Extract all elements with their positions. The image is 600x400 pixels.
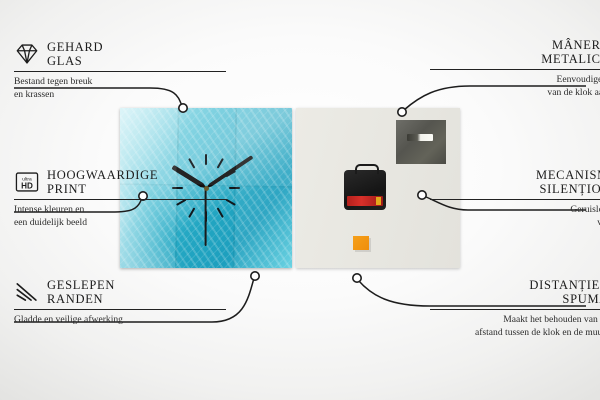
feature-title-line: SPUMĂ xyxy=(529,292,600,306)
feature-heading: MECANISM SILENȚIOS xyxy=(430,168,600,196)
feature-title-line: GEHARD xyxy=(47,40,103,54)
feature-silent-mechanism: MECANISM SILENȚIOS Geruisloze wijzers va… xyxy=(430,168,600,229)
battery xyxy=(347,196,383,206)
svg-text:HD: HD xyxy=(21,182,33,191)
feature-title: MÂNERE METALICE xyxy=(541,38,600,66)
feature-heading: ultra HD HOOGWAARDIGE PRINT xyxy=(14,168,226,196)
feature-metal-handles: MÂNERE METALICE Eenvoudige installatie v… xyxy=(430,38,600,99)
feature-title-line: METALICE xyxy=(541,52,600,66)
feature-desc-line: van de klok aan de muur xyxy=(430,87,600,100)
feature-desc-line: en krassen xyxy=(14,89,226,102)
feature-desc-line: Eenvoudige installatie xyxy=(430,74,600,87)
feature-tempered-glass: GEHARD GLAS Bestand tegen breuk en krass… xyxy=(14,40,226,101)
feature-title-line: PRINT xyxy=(47,182,158,196)
bevel-lines-icon xyxy=(14,279,40,305)
feature-title-line: MÂNERE xyxy=(541,38,600,52)
feature-divider xyxy=(430,199,600,200)
infographic-canvas: GEHARD GLAS Bestand tegen breuk en krass… xyxy=(0,0,600,400)
feature-description: Maakt het behouden van een gelijke afsta… xyxy=(430,314,600,339)
feature-divider xyxy=(430,69,600,70)
foam-spacer-pad xyxy=(353,236,369,250)
quartz-movement-box xyxy=(344,170,386,210)
feature-heading: MÂNERE METALICE xyxy=(430,38,600,66)
feature-desc-line: Bestand tegen breuk xyxy=(14,76,226,89)
feature-title: GESLEPEN RANDEN xyxy=(47,278,115,306)
feature-desc-line: Gladde en veilige afwerking xyxy=(14,314,226,327)
feature-divider xyxy=(14,309,226,310)
callout-dot-edges xyxy=(251,272,259,280)
hanger-slot xyxy=(407,134,433,141)
feature-title-line: MECANISM xyxy=(536,168,600,182)
feature-desc-line: Intense kleuren en xyxy=(14,204,226,217)
feature-title-line: SILENȚIOS xyxy=(536,182,600,196)
metal-hanger-plate xyxy=(396,120,446,164)
feature-divider xyxy=(14,199,226,200)
feature-title: MECANISM SILENȚIOS xyxy=(536,168,600,196)
feature-title: GEHARD GLAS xyxy=(47,40,103,68)
feature-title-line: GLAS xyxy=(47,54,103,68)
feature-foam-spacer: DISTANȚIER SPUMĂ Maakt het behouden van … xyxy=(430,278,600,339)
feature-desc-line: Geruisloze wijzers xyxy=(430,204,600,217)
feature-desc-line: afstand tussen de klok en de muur mogeli… xyxy=(430,327,600,340)
diamond-icon xyxy=(14,41,40,67)
feature-description: Gladde en veilige afwerking xyxy=(14,314,226,327)
feature-desc-line: van de klok xyxy=(430,217,600,230)
feature-title-line: GESLEPEN xyxy=(47,278,115,292)
feature-description: Intense kleuren en een duidelijk beeld xyxy=(14,204,226,229)
feature-divider xyxy=(430,309,600,310)
feature-heading: GEHARD GLAS xyxy=(14,40,226,68)
feature-description: Eenvoudige installatie van de klok aan d… xyxy=(430,74,600,99)
feature-title: HOOGWAARDIGE PRINT xyxy=(47,168,158,196)
feature-title-line: DISTANȚIER xyxy=(529,278,600,292)
feature-heading: GESLEPEN RANDEN xyxy=(14,278,226,306)
feature-high-quality-print: ultra HD HOOGWAARDIGE PRINT Intense kleu… xyxy=(14,168,226,229)
feature-polished-edges: GESLEPEN RANDEN Gladde en veilige afwerk… xyxy=(14,278,226,327)
feature-desc-line: een duidelijk beeld xyxy=(14,217,226,230)
feature-desc-line: Maakt het behouden van een gelijke xyxy=(430,314,600,327)
feature-description: Geruisloze wijzers van de klok xyxy=(430,204,600,229)
feature-title-line: HOOGWAARDIGE xyxy=(47,168,158,182)
ultra-hd-icon: ultra HD xyxy=(14,169,40,195)
callout-dot-spacer xyxy=(353,274,361,282)
feature-heading: DISTANȚIER SPUMĂ xyxy=(430,278,600,306)
feature-title: DISTANȚIER SPUMĂ xyxy=(529,278,600,306)
feature-description: Bestand tegen breuk en krassen xyxy=(14,76,226,101)
feature-title-line: RANDEN xyxy=(47,292,115,306)
feature-divider xyxy=(14,71,226,72)
